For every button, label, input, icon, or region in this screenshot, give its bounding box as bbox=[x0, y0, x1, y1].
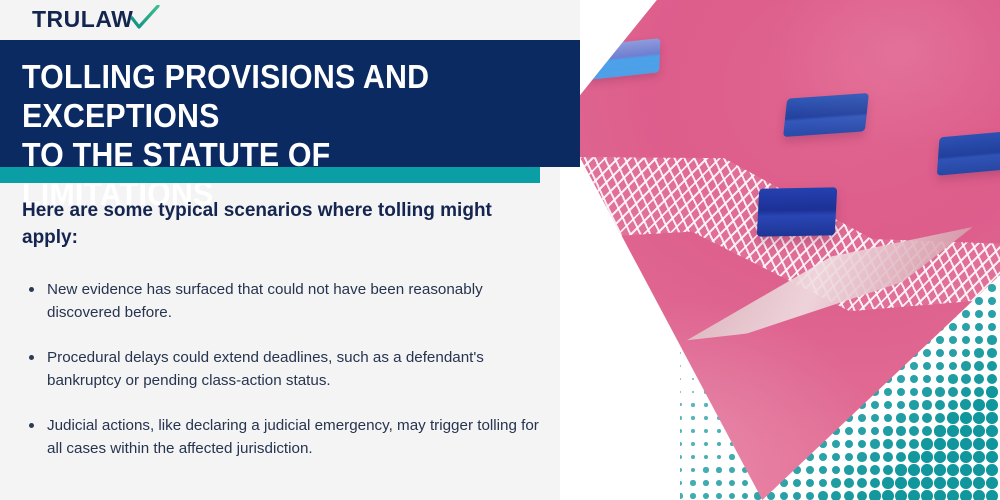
scenario-list: New evidence has surfaced that could not… bbox=[22, 278, 552, 461]
mesh-ribbon bbox=[560, 130, 1000, 359]
content-area: Here are some typical scenarios where to… bbox=[22, 198, 552, 461]
capsule-3 bbox=[937, 130, 1000, 175]
accent-bar bbox=[0, 167, 540, 183]
mesh-blade-highlight bbox=[676, 227, 983, 343]
infographic-page: TRULAW TOLLING PROVISIONS AND EXCEPTIONS… bbox=[0, 0, 1000, 500]
list-item: New evidence has surfaced that could not… bbox=[22, 278, 552, 324]
capsule-1 bbox=[588, 38, 661, 80]
check-icon bbox=[130, 5, 160, 36]
logo-bar: TRULAW bbox=[0, 0, 580, 40]
brand-logo[interactable]: TRULAW bbox=[32, 8, 160, 36]
list-item: Procedural delays could extend deadlines… bbox=[22, 346, 552, 392]
lede-text: Here are some typical scenarios where to… bbox=[22, 198, 552, 252]
graphic-panel bbox=[560, 0, 1000, 500]
list-item: Judicial actions, like declaring a judic… bbox=[22, 414, 552, 460]
logo-wordmark: TRULAW bbox=[32, 8, 133, 31]
title-block: TOLLING PROVISIONS AND EXCEPTIONS TO THE… bbox=[0, 40, 580, 167]
capsule-4 bbox=[757, 187, 838, 236]
capsule-2 bbox=[783, 93, 869, 137]
page-title: TOLLING PROVISIONS AND EXCEPTIONS TO THE… bbox=[22, 58, 511, 214]
